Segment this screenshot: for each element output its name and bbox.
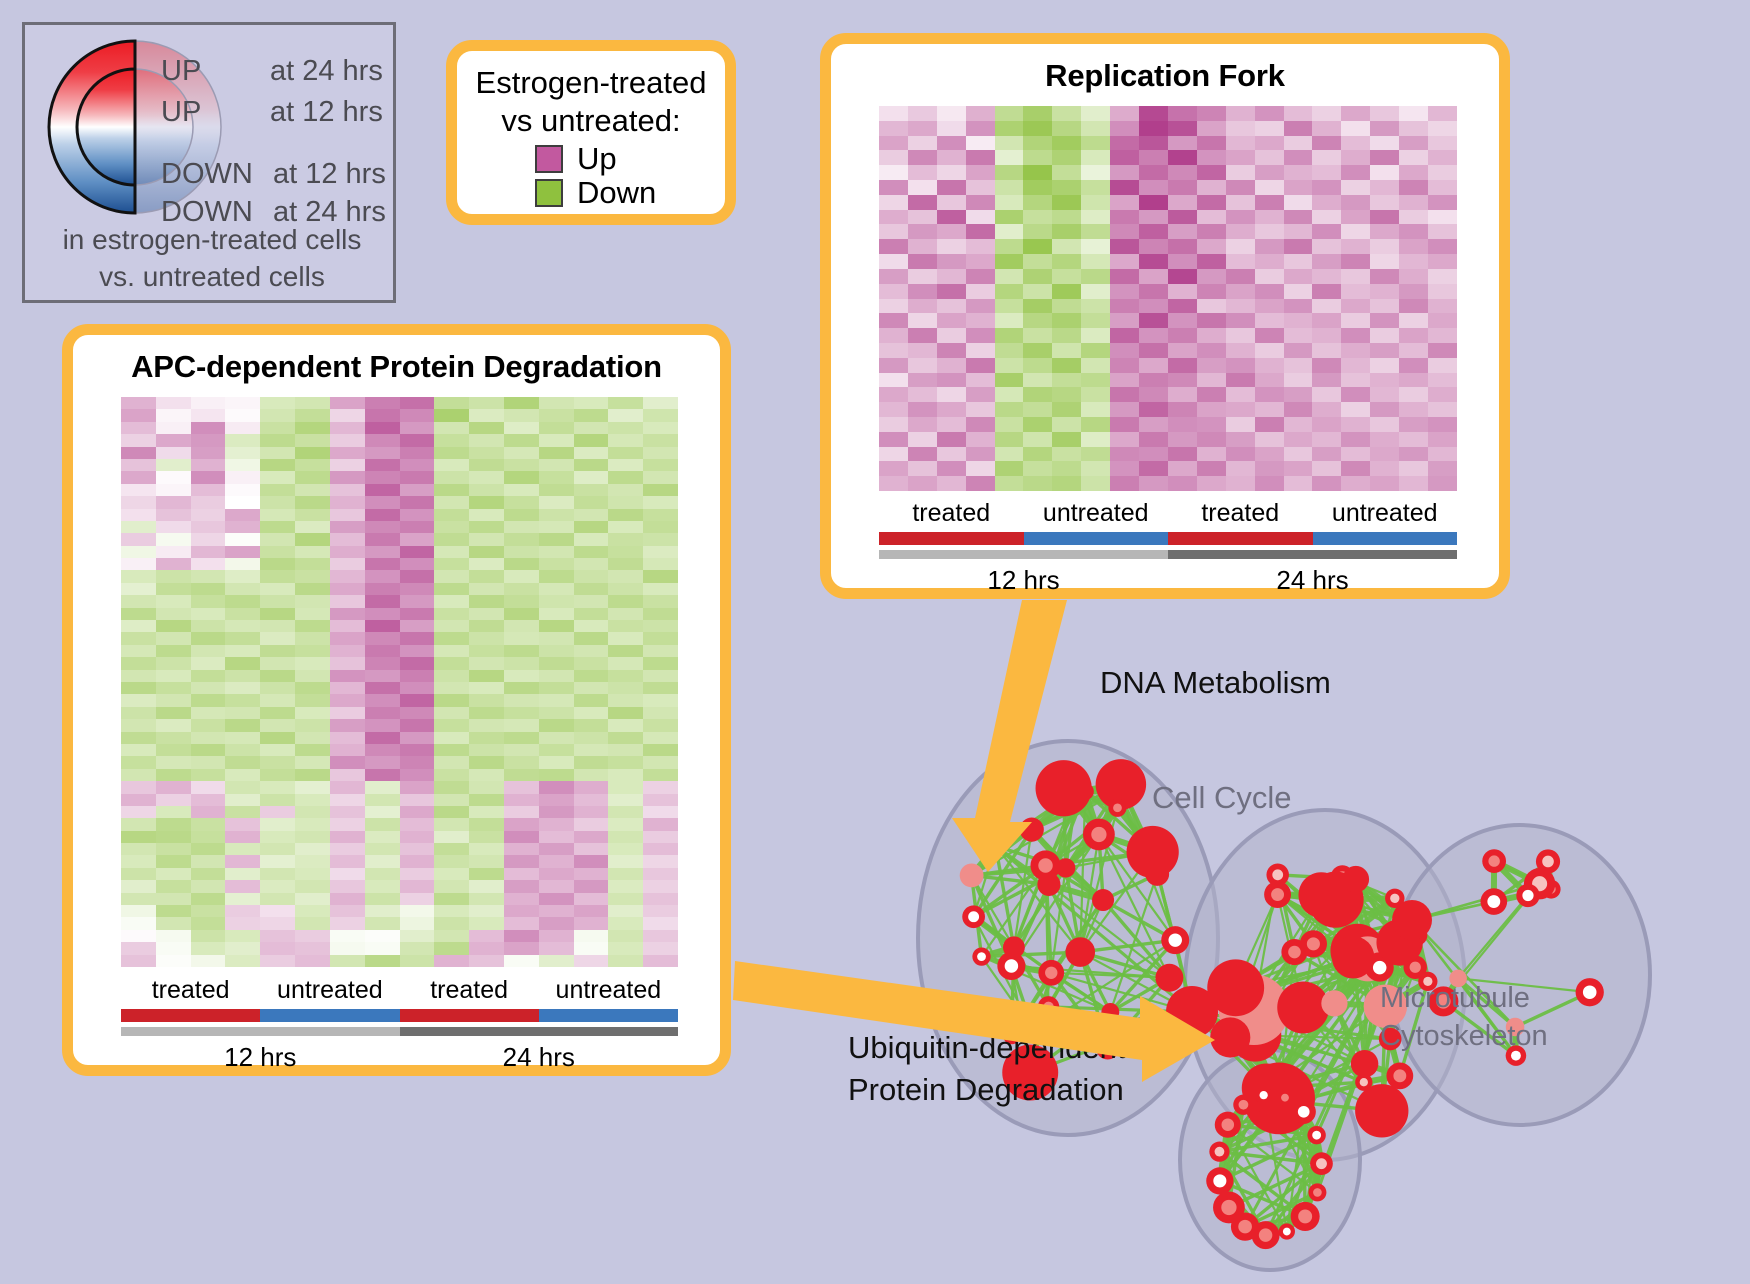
heatmap-cell (191, 917, 226, 929)
heatmap-cell (1399, 417, 1428, 432)
heatmap-cell (608, 781, 643, 793)
heatmap-cell (937, 343, 966, 358)
heatmap-cell (879, 447, 908, 462)
heatmap-cell (1052, 210, 1081, 225)
heatmap-cell (1341, 224, 1370, 239)
heatmap-cell (365, 917, 400, 929)
heatmap-cell (1052, 195, 1081, 210)
heatmap-cell (608, 719, 643, 731)
heatmap-cell (1139, 476, 1168, 491)
heatmap-cell (260, 447, 295, 459)
heatmap-cell (225, 570, 260, 582)
heatmap-cell (539, 620, 574, 632)
heatmap-cell (608, 620, 643, 632)
heatmap-cell (1312, 328, 1341, 343)
heatmap-cell (434, 620, 469, 632)
heatmap-cell (295, 905, 330, 917)
heatmap-cell (1399, 239, 1428, 254)
heatmap-cell (156, 409, 191, 421)
heatmap-cell (608, 422, 643, 434)
heatmap-cell (1139, 165, 1168, 180)
heatmap-cell (121, 471, 156, 483)
heatmap-cell (1226, 195, 1255, 210)
heatmap-cell (295, 855, 330, 867)
heatmap-cell (1052, 254, 1081, 269)
heatmap-cell (574, 880, 609, 892)
heatmap-cell (225, 781, 260, 793)
heatmap-cell (330, 558, 365, 570)
heatmap-cell (121, 521, 156, 533)
heatmap-cell (1197, 313, 1226, 328)
heatmap-cell (966, 313, 995, 328)
heatmap-cell (365, 942, 400, 954)
heatmap-cell (1023, 373, 1052, 388)
heatmap-cell (260, 409, 295, 421)
heatmap-cell (365, 447, 400, 459)
heatmap-cell (1023, 343, 1052, 358)
heatmap-cell (1255, 121, 1284, 136)
heatmap-cell (434, 905, 469, 917)
heatmap-cell (121, 843, 156, 855)
heatmap-cell (191, 595, 226, 607)
network-node (1155, 964, 1183, 992)
heatmap-cell (191, 868, 226, 880)
heatmap-cell (1168, 328, 1197, 343)
heatmap-cell (908, 373, 937, 388)
heatmap-cell (1197, 165, 1226, 180)
heatmap-cell (469, 893, 504, 905)
heatmap-cell (469, 657, 504, 669)
heatmap-cell (908, 432, 937, 447)
heatmap-cell (643, 769, 678, 781)
heatmap-cell (400, 471, 435, 483)
heatmap-cell (156, 905, 191, 917)
heatmap-cell (504, 818, 539, 830)
heatmap-cell (1341, 269, 1370, 284)
heatmap-cell (937, 106, 966, 121)
heatmap-cell (1081, 461, 1110, 476)
heatmap-cell (504, 558, 539, 570)
heatmap-cell (191, 719, 226, 731)
heatmap-cell (643, 422, 678, 434)
heatmap-cell (260, 632, 295, 644)
heatmap-cell (400, 682, 435, 694)
heatmap-cell (121, 533, 156, 545)
heatmap-cell (260, 496, 295, 508)
axis-group-label: untreated (1024, 499, 1169, 528)
heatmap-cell (1023, 239, 1052, 254)
heatmap-cell (156, 422, 191, 434)
axis-treatment-bar (121, 1009, 678, 1022)
heatmap-cell (574, 682, 609, 694)
heatmap-cell (937, 121, 966, 136)
heatmap-cell (966, 210, 995, 225)
heatmap-cell (1428, 328, 1457, 343)
network-node-core (1222, 1118, 1235, 1131)
heatmap-cell (365, 546, 400, 558)
heatmap-cell (1110, 373, 1139, 388)
heatmap-cell (504, 719, 539, 731)
heatmap-cell (191, 608, 226, 620)
heatmap-cell (643, 471, 678, 483)
heatmap-cell (574, 484, 609, 496)
heatmap-cell (1255, 299, 1284, 314)
legend-label-up: Up (577, 143, 617, 174)
heatmap-cell (1052, 417, 1081, 432)
heatmap-cell (539, 422, 574, 434)
heatmap-cell (260, 917, 295, 929)
heatmap-cell (966, 328, 995, 343)
heatmap-cell (504, 645, 539, 657)
network-node-core (1522, 890, 1533, 901)
heatmap-cell (295, 570, 330, 582)
axis-time-segment (1168, 550, 1457, 559)
heatmap-cell (469, 818, 504, 830)
heatmap-cell (1023, 402, 1052, 417)
heatmap-cell (574, 447, 609, 459)
heatmap-cell (1052, 284, 1081, 299)
heatmap-cell (1428, 373, 1457, 388)
heatmap-cell (1168, 136, 1197, 151)
heatmap-cell (1284, 447, 1313, 462)
heatmap-cell (1052, 461, 1081, 476)
heatmap-cell (504, 583, 539, 595)
network-node-core (977, 952, 986, 961)
heatmap-cell (1399, 106, 1428, 121)
heatmap-cell (330, 955, 365, 967)
heatmap-cell (966, 461, 995, 476)
heatmap-cell (156, 608, 191, 620)
heatmap-cell (574, 806, 609, 818)
heatmap-cell (966, 195, 995, 210)
heatmap-cell (260, 781, 295, 793)
heatmap-cell (1428, 358, 1457, 373)
axis-time-segment (400, 1027, 679, 1036)
heatmap-cell (879, 328, 908, 343)
heatmap-cell (608, 670, 643, 682)
axis-treatment-segment (1024, 532, 1169, 545)
legend-swatch-up (535, 145, 563, 173)
heatmap-cell (121, 484, 156, 496)
heatmap-cell (1399, 269, 1428, 284)
heatmap-cell (365, 893, 400, 905)
heatmap-cell (434, 583, 469, 595)
heatmap-cell (400, 818, 435, 830)
heatmap-cell (908, 195, 937, 210)
heatmap-cell (1081, 299, 1110, 314)
heatmap-cell (260, 818, 295, 830)
heatmap-cell (1052, 432, 1081, 447)
heatmap-cell (365, 570, 400, 582)
heatmap-cell (608, 818, 643, 830)
heatmap-cell (1139, 461, 1168, 476)
heatmap-cell (1341, 299, 1370, 314)
heatmap-cell (1370, 121, 1399, 136)
heatmap-cell (966, 224, 995, 239)
heatmap-cell (191, 880, 226, 892)
heatmap-cell (400, 509, 435, 521)
heatmap-cell (365, 930, 400, 942)
heatmap-cell (225, 496, 260, 508)
heatmap-cell (1370, 165, 1399, 180)
heatmap-cell (434, 422, 469, 434)
heatmap-cell (504, 893, 539, 905)
heatmap-cell (365, 422, 400, 434)
heatmap-cell (295, 707, 330, 719)
heatmap-cell (1197, 387, 1226, 402)
heatmap-cell (1370, 210, 1399, 225)
heatmap-cell (225, 806, 260, 818)
heatmap-cell (191, 930, 226, 942)
heatmap-cell (643, 509, 678, 521)
heatmap-cell (574, 843, 609, 855)
network-node-core (1238, 1220, 1252, 1234)
heatmap-cell (1197, 343, 1226, 358)
heatmap-cell (908, 313, 937, 328)
heatmap-cell (191, 422, 226, 434)
heatmap-cell (995, 136, 1024, 151)
axis-treatment-segment (1168, 532, 1313, 545)
network-node-core (1288, 946, 1301, 959)
heatmap-cell (539, 546, 574, 558)
heatmap-cell (574, 422, 609, 434)
heatmap-cell (156, 806, 191, 818)
heatmap-cell (121, 806, 156, 818)
heatmap-cell (295, 942, 330, 954)
heatmap-cell (1284, 224, 1313, 239)
heatmap-cell (1370, 313, 1399, 328)
heatmap-cell (574, 657, 609, 669)
heatmap-cell (995, 284, 1024, 299)
heatmap-cell (1370, 106, 1399, 121)
heatmap-cell (608, 496, 643, 508)
heatmap-cell (365, 719, 400, 731)
heatmap-cell (260, 942, 295, 954)
heatmap-cell (643, 880, 678, 892)
heatmap-cell (966, 165, 995, 180)
heatmap-cell (330, 509, 365, 521)
heatmap-cell (643, 955, 678, 967)
heatmap-cell (995, 358, 1024, 373)
heatmap-cell (1197, 358, 1226, 373)
heatmap-cell (1312, 269, 1341, 284)
heatmap-cell (156, 533, 191, 545)
heatmap-cell (1139, 269, 1168, 284)
heatmap-cell (1081, 254, 1110, 269)
heatmap-cell (1023, 284, 1052, 299)
heatmap-cell (608, 917, 643, 929)
heatmap-cell (469, 955, 504, 967)
axis-group-label: untreated (539, 976, 678, 1005)
heatmap-cell (608, 570, 643, 582)
heatmap-cell (1284, 136, 1313, 151)
heatmap-cell (191, 818, 226, 830)
network-node-core (1298, 1106, 1310, 1118)
heatmap-cell (1226, 224, 1255, 239)
heatmap-cell (156, 521, 191, 533)
heatmap-cell (937, 136, 966, 151)
heatmap-cell (937, 358, 966, 373)
heatmap-cell (121, 893, 156, 905)
legend-title-line2: vs untreated: (457, 102, 725, 140)
heatmap-cell (1399, 210, 1428, 225)
axis-time-label: 24 hrs (1168, 565, 1457, 596)
network-node-core (1313, 1188, 1322, 1197)
heatmap-cell (1023, 224, 1052, 239)
heatmap-cell (1110, 313, 1139, 328)
heatmap-cell (1226, 461, 1255, 476)
heatmap-cell (1370, 136, 1399, 151)
heatmap-cell (225, 843, 260, 855)
heatmap-cell (504, 855, 539, 867)
network-node-core (1091, 827, 1106, 842)
heatmap-cell (225, 868, 260, 880)
heatmap-cell (330, 546, 365, 558)
heatmap-cell (400, 756, 435, 768)
heatmap-cell (1023, 447, 1052, 462)
heatmap-cell (643, 632, 678, 644)
heatmap-cell (260, 397, 295, 409)
heatmap-cell (121, 855, 156, 867)
heatmap-cell (434, 595, 469, 607)
heatmap-cell (1197, 447, 1226, 462)
heatmap-cell (1110, 358, 1139, 373)
panel-title-apc-dependent: APC-dependent Protein Degradation (73, 335, 720, 385)
heatmap-cell (574, 546, 609, 558)
heatmap-cell (1139, 254, 1168, 269)
heatmap-cell (295, 670, 330, 682)
heatmap-cell (191, 657, 226, 669)
heatmap-cell (469, 422, 504, 434)
heatmap-cell (995, 461, 1024, 476)
heatmap-cell (539, 843, 574, 855)
heatmap-cell (400, 694, 435, 706)
heatmap-cell (1052, 402, 1081, 417)
heatmap-cell (643, 744, 678, 756)
heatmap-cell (434, 694, 469, 706)
heatmap-cell (504, 905, 539, 917)
network-annotation-line1: Ubiquitin-dependent (848, 1030, 1126, 1066)
heatmap-cell (434, 645, 469, 657)
network-node-core (1312, 1131, 1321, 1140)
heatmap-cell (121, 397, 156, 409)
heatmap-cell (643, 645, 678, 657)
heatmap-cell (504, 595, 539, 607)
heatmap-cell (295, 595, 330, 607)
heatmap-cell (156, 645, 191, 657)
heatmap-cell (191, 694, 226, 706)
heatmap-cell (295, 694, 330, 706)
heatmap-cell (260, 509, 295, 521)
heatmap-cell (295, 930, 330, 942)
heatmap-cell (1081, 387, 1110, 402)
heatmap-cell (1023, 180, 1052, 195)
heatmap-cell (121, 781, 156, 793)
network-node-core (1272, 869, 1283, 880)
heatmap-cell (260, 682, 295, 694)
heatmap-cell (225, 694, 260, 706)
heatmap-cell (1081, 476, 1110, 491)
heatmap-cell (1052, 180, 1081, 195)
heatmap-cell (1341, 136, 1370, 151)
heatmap-cell (260, 756, 295, 768)
axis-treatment-bar (879, 532, 1457, 545)
axis-group-labels: treateduntreatedtreateduntreated (879, 499, 1457, 528)
heatmap-cell (469, 397, 504, 409)
heatmap-cell (504, 422, 539, 434)
heatmap-cell (156, 670, 191, 682)
heatmap-cell (156, 459, 191, 471)
heatmap-cell (1023, 121, 1052, 136)
network-node-core (1542, 856, 1554, 868)
heatmap-cell (400, 447, 435, 459)
heatmap-cell (1226, 136, 1255, 151)
heatmap-cell (643, 732, 678, 744)
heatmap-cell (1023, 417, 1052, 432)
heatmap-cell (574, 645, 609, 657)
legend-swatch-down (535, 179, 563, 207)
heatmap-cell (400, 843, 435, 855)
heatmap-cell (191, 409, 226, 421)
network-node-core (1271, 888, 1284, 901)
heatmap-cell (156, 930, 191, 942)
heatmap-cell (295, 521, 330, 533)
heatmap-cell (469, 521, 504, 533)
heatmap-cell (156, 546, 191, 558)
heatmap-cell (539, 484, 574, 496)
heatmap-cell (469, 868, 504, 880)
heatmap-cell (643, 806, 678, 818)
network-node (1210, 1017, 1250, 1057)
heatmap-cell (191, 831, 226, 843)
heatmap-cell (539, 769, 574, 781)
heatmap-cell (156, 570, 191, 582)
network-node-core (1583, 985, 1597, 999)
heatmap-cell (400, 595, 435, 607)
heatmap-cell (156, 781, 191, 793)
heatmap-cell (469, 831, 504, 843)
network-node-core (1390, 894, 1399, 903)
heatmap-cell (608, 955, 643, 967)
heatmap-cell (1428, 417, 1457, 432)
network-node-core (1169, 933, 1182, 946)
heatmap-cell (469, 471, 504, 483)
heatmap-cell (1370, 150, 1399, 165)
heatmap-cell (1052, 447, 1081, 462)
heatmap-cell (469, 682, 504, 694)
heatmap-cell (400, 942, 435, 954)
heatmap-cell (330, 459, 365, 471)
heatmap-cell (225, 459, 260, 471)
heatmap-cell (1197, 284, 1226, 299)
heatmap-cell (1052, 313, 1081, 328)
heatmap-cell (434, 806, 469, 818)
axis-group-label: untreated (260, 976, 399, 1005)
heatmap-cell (434, 955, 469, 967)
heatmap-cell (1110, 461, 1139, 476)
heatmap-cell (1197, 210, 1226, 225)
heatmap-cell (1312, 254, 1341, 269)
heatmap-cell (574, 583, 609, 595)
heatmap-cell (225, 930, 260, 942)
heatmap-cell (260, 657, 295, 669)
heatmap-cell (121, 459, 156, 471)
heatmap-cell (1168, 358, 1197, 373)
heatmap-cell (121, 595, 156, 607)
network-node-core (1316, 1158, 1327, 1169)
heatmap-cell (1399, 313, 1428, 328)
network-node (1392, 900, 1432, 940)
